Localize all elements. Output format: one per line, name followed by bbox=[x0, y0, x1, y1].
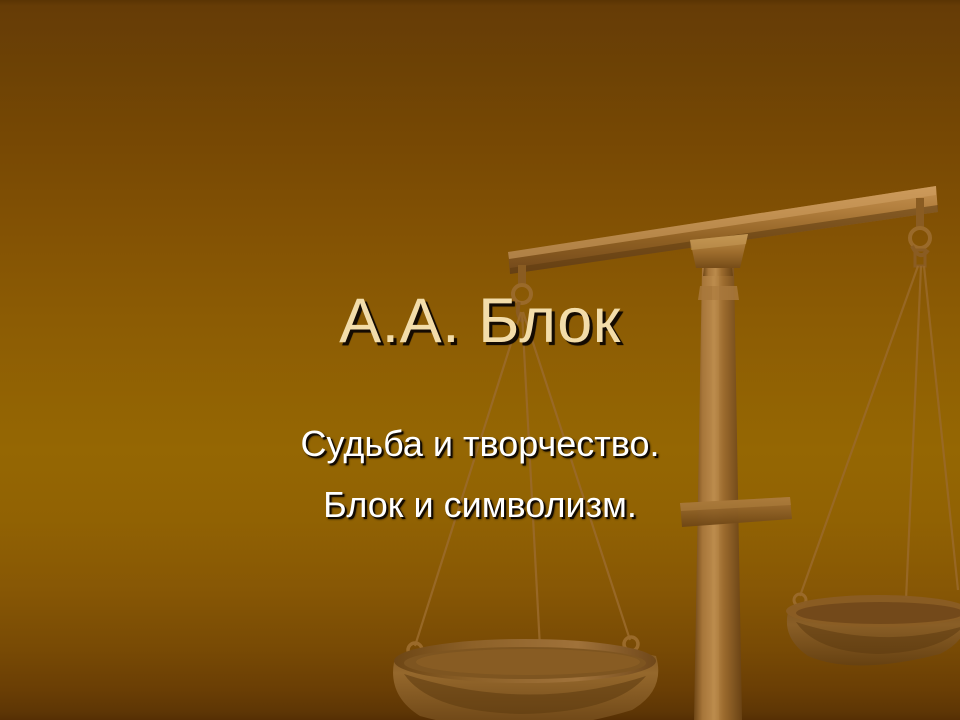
slide-title: А.А. Блок bbox=[0, 288, 960, 354]
slide-subtitle-line-1: Судьба и творчество. bbox=[0, 424, 960, 464]
slide-subtitle-line-2: Блок и символизм. bbox=[0, 485, 960, 525]
presentation-slide: А.А. Блок Судьба и творчество. Блок и си… bbox=[0, 0, 960, 720]
slide-text-layer: А.А. Блок Судьба и творчество. Блок и си… bbox=[0, 0, 960, 720]
